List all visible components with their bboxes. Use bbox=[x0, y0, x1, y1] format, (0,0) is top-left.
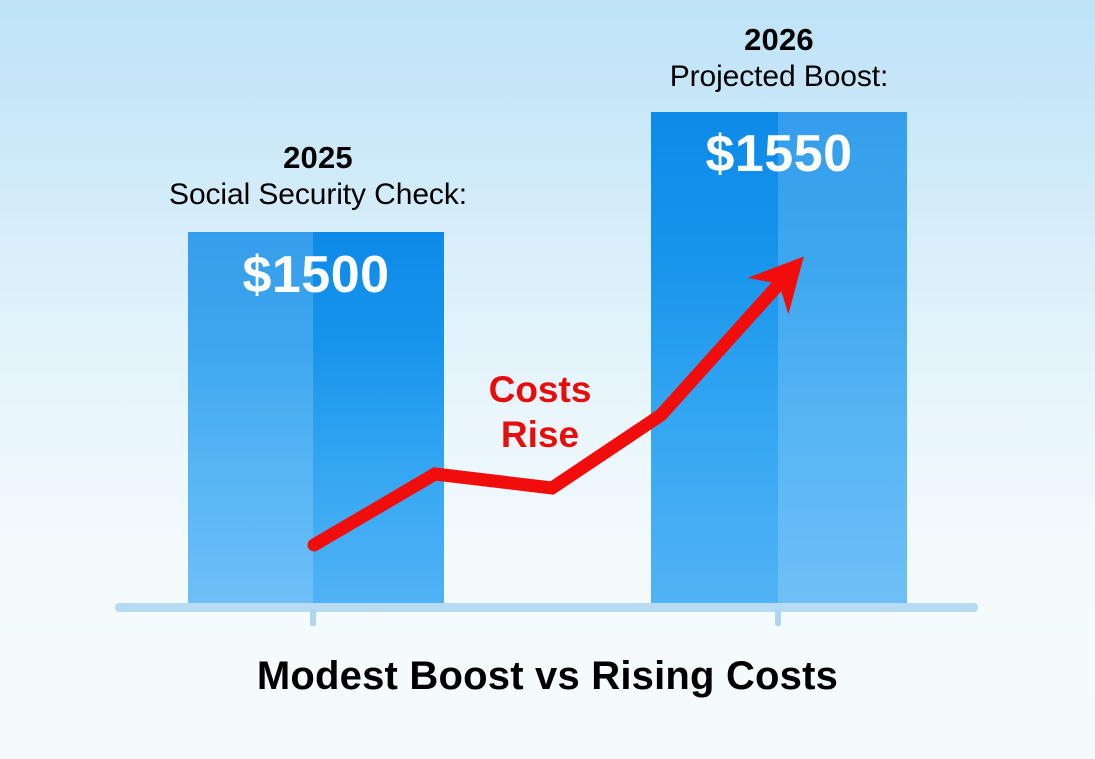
bar-year-2025: 2025 bbox=[108, 140, 528, 175]
chart-plot-area: 2025 Social Security Check: $1500 2026 P… bbox=[0, 0, 1095, 759]
bar-year-2026: 2026 bbox=[569, 22, 989, 57]
bar-caption-2026: Projected Boost: bbox=[569, 60, 989, 94]
bar-label-2026: 2026 Projected Boost: bbox=[569, 22, 989, 94]
bar-label-2025: 2025 Social Security Check: bbox=[108, 140, 528, 212]
axis-tick-2026 bbox=[775, 610, 781, 626]
annotation-costs-rise: Costs Rise bbox=[420, 367, 660, 457]
annotation-line-1: Costs bbox=[489, 369, 592, 410]
chart-footer-caption: Modest Boost vs Rising Costs bbox=[0, 654, 1095, 699]
annotation-line-2: Rise bbox=[501, 414, 579, 455]
axis-tick-2025 bbox=[310, 610, 316, 626]
infographic-chart: 2025 Social Security Check: $1500 2026 P… bbox=[0, 0, 1095, 759]
bar-caption-2025: Social Security Check: bbox=[108, 178, 528, 212]
bar-value-2025: $1500 bbox=[188, 245, 444, 305]
axis-baseline bbox=[115, 603, 978, 612]
bar-value-2026: $1550 bbox=[651, 124, 907, 184]
bar-2026[interactable] bbox=[651, 112, 907, 607]
